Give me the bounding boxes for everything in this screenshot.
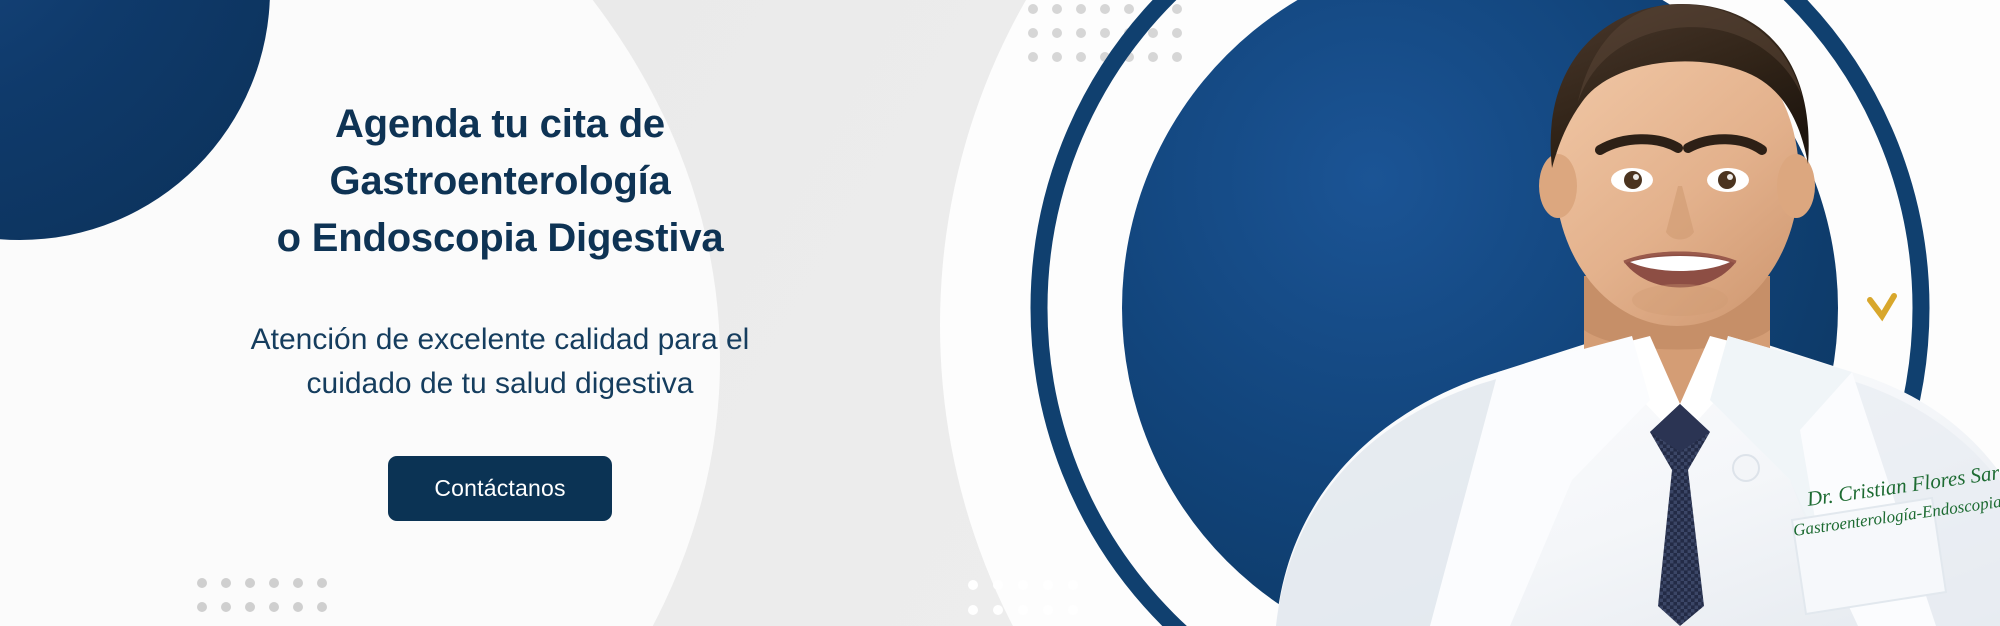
hero-banner: Dr. Cristian Flores Sarmiento Gastroente… (0, 0, 2000, 626)
decorative-dot (993, 580, 1003, 590)
decorative-dot (221, 602, 231, 612)
decorative-dot (993, 605, 1003, 615)
decorative-dot (197, 578, 207, 588)
decorative-dot (317, 578, 327, 588)
decorative-dot (968, 605, 978, 615)
page-title: Agenda tu cita de Gastroenterología o En… (180, 96, 820, 266)
doctor-portrait: Dr. Cristian Flores Sarmiento Gastroente… (1180, 0, 2000, 626)
headline-line-2: o Endoscopia Digestiva (180, 210, 820, 267)
hero-content: Agenda tu cita de Gastroenterología o En… (180, 96, 820, 521)
decorative-dot (269, 578, 279, 588)
decorative-dot (317, 602, 327, 612)
headline-line-1: Agenda tu cita de Gastroenterología (180, 96, 820, 210)
contact-button[interactable]: Contáctanos (388, 456, 611, 521)
cta-container: Contáctanos (180, 456, 820, 521)
decorative-dot (221, 578, 231, 588)
decorative-dot (269, 602, 279, 612)
decorative-dot (245, 578, 255, 588)
decorative-dot (293, 578, 303, 588)
decorative-dot (293, 602, 303, 612)
decorative-dot (1018, 580, 1028, 590)
page-subtitle: Atención de excelente calidad para el cu… (180, 318, 820, 406)
decorative-dot (968, 580, 978, 590)
decorative-dot (245, 602, 255, 612)
decorative-dot (1018, 605, 1028, 615)
decorative-dot (197, 602, 207, 612)
subhead-line-1: Atención de excelente calidad para el (180, 318, 820, 362)
subhead-line-2: cuidado de tu salud digestiva (180, 362, 820, 406)
